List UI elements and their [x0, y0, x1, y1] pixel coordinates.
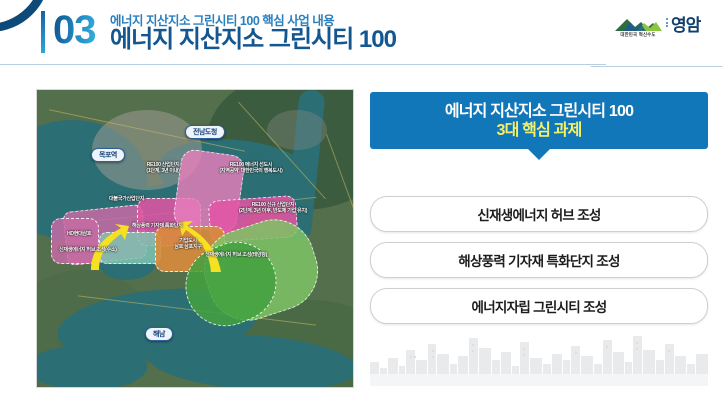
task-label-2: 해상풍력 기자재 특화단지 조성	[458, 250, 620, 270]
map-label-corporate-city: 기업도시삼호 삼포지구	[155, 238, 221, 250]
map-label-hydrogen-hub: 신재생에너지 허브 조성(수소)	[59, 247, 117, 253]
banner-line-1: 에너지 지산지소 그린시티 100	[445, 102, 633, 121]
header-divider-slant	[590, 48, 725, 67]
map-label-re100-new-complex: RE100 신규 산업단지(2단계, 3년 이후, 반도체 기업 유치)	[219, 202, 327, 214]
banner-line-2: 3대 핵심 과제	[497, 121, 582, 140]
map-pin-haenam[interactable]: 해남	[145, 327, 173, 341]
banner-arrow-down-icon	[528, 149, 550, 160]
task-card-3[interactable]: 에너지자립 그린시티 조성	[370, 288, 708, 324]
map-label-hd-hyundai-samho: HD현대삼호	[67, 231, 91, 237]
map-label-re100-leading-city: RE100 에너지 선도시(지역공약, 대한민국의 행복도시)	[199, 162, 303, 174]
map-pin-jeonnam-provincial-office[interactable]: 전남도청	[185, 125, 225, 139]
panel-banner: 에너지 지산지소 그린시티 100 3대 핵심 과제	[370, 92, 708, 149]
logo-dots-icon	[666, 18, 668, 29]
satellite-map[interactable]: RE100 산업단지(1단계, 3년 이내) RE100 에너지 선도시(지역공…	[36, 89, 354, 388]
task-card-2[interactable]: 해상풍력 기자재 특화단지 조성	[370, 242, 708, 278]
skyline-icon	[370, 330, 708, 386]
task-label-3: 에너지자립 그린시티 조성	[471, 296, 606, 316]
map-label-daebul: 대불국가산업단지	[109, 196, 144, 202]
map-label-re100-industrial: RE100 산업단지(1단계, 3년 이내)	[125, 162, 201, 174]
map-pin-mokpo-station[interactable]: 목포역	[91, 148, 125, 162]
city-skyline-decoration	[370, 330, 708, 386]
yeongam-logo: 대한민국 혁신수도 영암	[613, 14, 709, 46]
task-label-1: 신재생에너지 허브 조성	[477, 204, 600, 224]
mountain-icon	[613, 16, 663, 32]
section-number: 03	[53, 6, 96, 54]
header-divider	[0, 64, 606, 65]
logo-caption: 대한민국 혁신수도	[613, 32, 663, 38]
slide-root: 03 에너지 지산지소 그린시티 100 핵심 사업 내용 에너지 지산지소 그…	[0, 0, 725, 402]
logo-name: 영암	[671, 16, 700, 35]
map-label-solar-hub: 신재생에너지 허브 조성(태양광)	[205, 252, 267, 258]
task-card-1[interactable]: 신재생에너지 허브 조성	[370, 196, 708, 232]
slide-header: 03 에너지 지산지소 그린시티 100 핵심 사업 내용 에너지 지산지소 그…	[0, 0, 725, 66]
map-label-offshore-wind: 해상풍력 기자재 특화단지	[132, 223, 182, 229]
header-accent-bar	[41, 11, 45, 53]
page-title: 에너지 지산지소 그린시티 100	[110, 25, 396, 55]
